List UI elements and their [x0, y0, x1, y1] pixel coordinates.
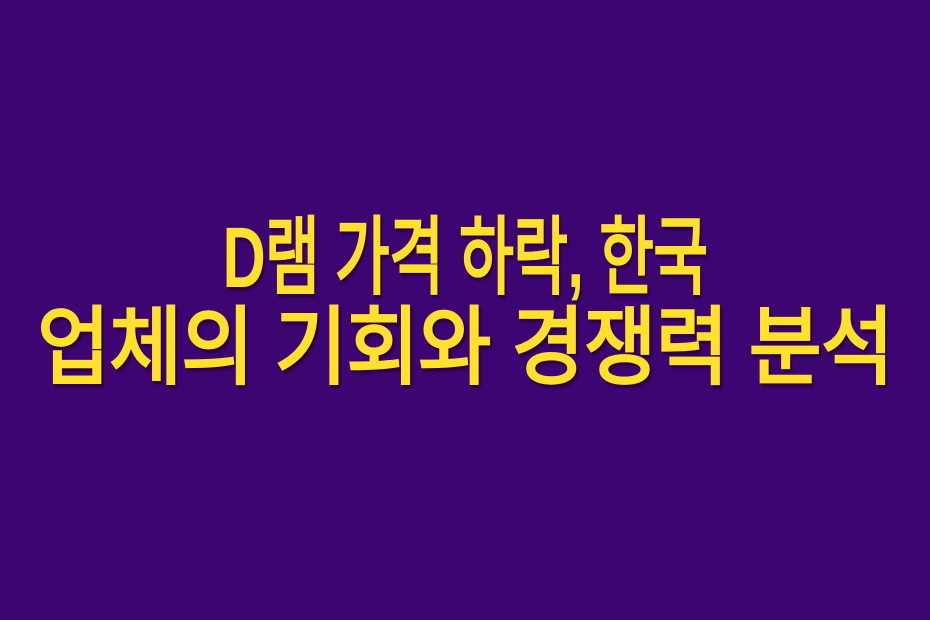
headline-line-2: 업체의 기회와 경쟁력 분석 — [36, 308, 894, 390]
headline-block: D램 가격 하락, 한국 업체의 기회와 경쟁력 분석 — [0, 218, 930, 389]
headline-line-1: D램 가격 하락, 한국 — [143, 218, 788, 300]
thumbnail-card: D램 가격 하락, 한국 업체의 기회와 경쟁력 분석 — [0, 0, 930, 620]
